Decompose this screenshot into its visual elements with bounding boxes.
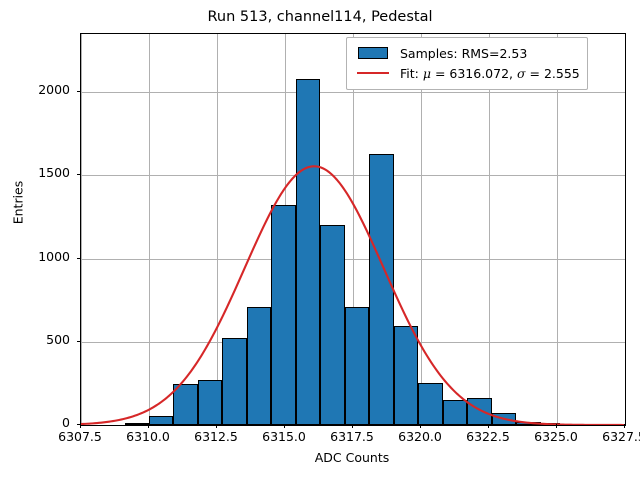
plot-inner	[81, 34, 625, 425]
y-tick-mark	[77, 91, 81, 92]
y-tick-mark	[77, 341, 81, 342]
histogram-bar	[467, 398, 491, 425]
histogram-bar	[492, 413, 516, 425]
legend-patch-icon	[354, 47, 392, 59]
legend-fit-prefix: Fit:	[400, 66, 423, 81]
x-tick-mark	[488, 424, 489, 428]
histogram-bar	[345, 307, 369, 425]
y-tick-label: 2000	[0, 82, 70, 97]
histogram-bar	[247, 307, 271, 425]
legend-fit-sigma-value: = 2.555	[526, 66, 580, 81]
chart-title: Run 513, channel114, Pedestal	[0, 9, 640, 25]
gridline-horizontal	[81, 175, 625, 176]
y-tick-label: 500	[0, 332, 70, 347]
x-tick-mark	[80, 424, 81, 428]
histogram-bar	[443, 400, 467, 425]
legend-item-fit: Fit: μ = 6316.072, σ = 2.555	[354, 63, 580, 83]
x-tick-label: 6317.5	[317, 429, 387, 444]
x-tick-mark	[420, 424, 421, 428]
gridline-horizontal	[81, 259, 625, 260]
legend-line-icon	[354, 72, 392, 74]
x-tick-label: 6307.5	[45, 429, 115, 444]
legend-fit-mu-value: = 6316.072,	[431, 66, 517, 81]
histogram-bar	[320, 225, 344, 425]
histogram-bar	[516, 422, 540, 425]
y-tick-mark	[77, 424, 81, 425]
histogram-bar	[198, 380, 222, 425]
chart-legend: Samples: RMS=2.53 Fit: μ = 6316.072, σ =…	[346, 37, 588, 90]
legend-label-samples: Samples: RMS=2.53	[400, 46, 527, 61]
x-tick-mark	[148, 424, 149, 428]
histogram-bar	[369, 154, 393, 425]
plot-axes	[80, 33, 626, 426]
x-tick-label: 6327.5	[589, 429, 640, 444]
histogram-bar	[222, 338, 246, 425]
matplotlib-figure: Run 513, channel114, Pedestal 6307.56310…	[0, 0, 640, 480]
x-tick-label: 6320.0	[385, 429, 455, 444]
gridline-horizontal	[81, 92, 625, 93]
legend-fit-sigma-symbol: σ	[517, 66, 526, 81]
x-axis-label: ADC Counts	[80, 450, 624, 465]
histogram-bar	[394, 326, 418, 425]
x-tick-mark	[216, 424, 217, 428]
x-tick-label: 6325.0	[521, 429, 591, 444]
x-tick-mark	[284, 424, 285, 428]
histogram-bar	[173, 384, 197, 425]
x-tick-label: 6315.0	[249, 429, 319, 444]
x-tick-label: 6312.5	[181, 429, 251, 444]
y-tick-label: 0	[0, 415, 70, 430]
x-tick-label: 6322.5	[453, 429, 523, 444]
legend-label-fit: Fit: μ = 6316.072, σ = 2.555	[400, 66, 580, 81]
histogram-bar	[125, 423, 149, 425]
y-tick-mark	[77, 174, 81, 175]
x-tick-label: 6310.0	[113, 429, 183, 444]
histogram-bar	[149, 416, 173, 425]
x-tick-mark	[556, 424, 557, 428]
x-tick-mark	[352, 424, 353, 428]
histogram-bar	[418, 383, 442, 425]
legend-fit-mu-symbol: μ	[423, 66, 431, 81]
y-tick-mark	[77, 258, 81, 259]
x-tick-mark	[624, 424, 625, 428]
histogram-bar	[271, 205, 295, 425]
legend-item-samples: Samples: RMS=2.53	[354, 43, 580, 63]
histogram-bar	[296, 79, 320, 425]
y-axis-label: Entries	[11, 103, 26, 303]
